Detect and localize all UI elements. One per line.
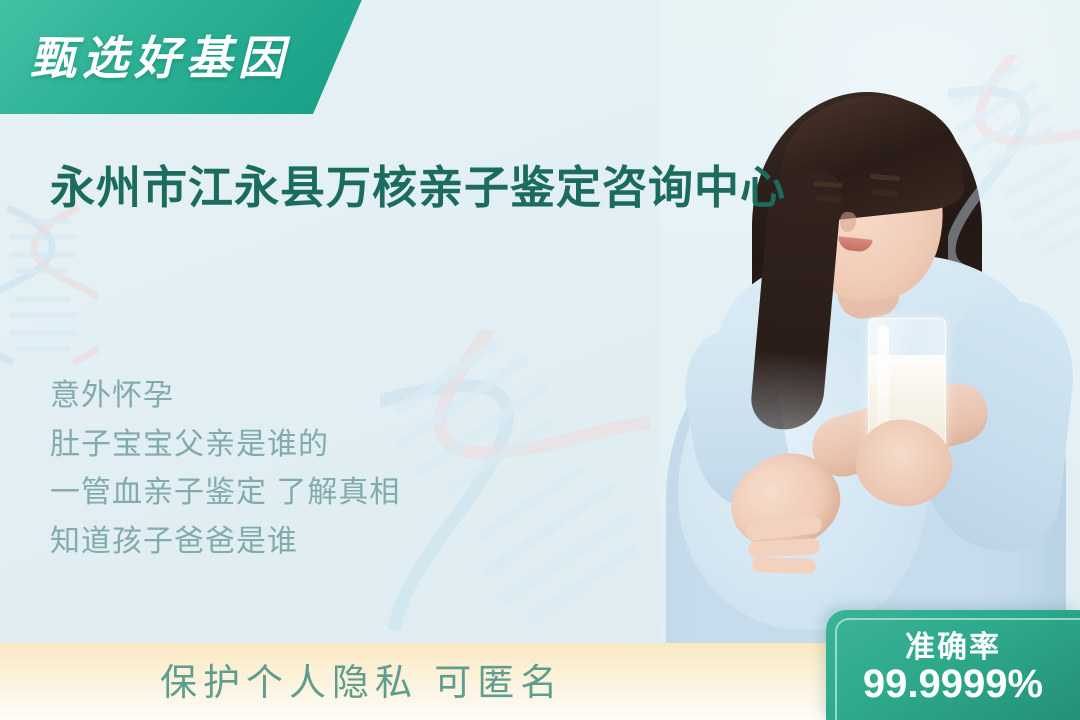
page-title: 永州市江永县万核亲子鉴定咨询中心: [50, 160, 850, 217]
bullet-line: 肚子宝宝父亲是谁的: [50, 421, 610, 470]
bullet-line: 意外怀孕: [50, 372, 610, 421]
brand-banner-text: 甄选好基因: [30, 22, 290, 88]
privacy-tagline: 保护个人隐私 可匿名: [160, 652, 563, 706]
accuracy-value: 99.9999%: [826, 662, 1080, 707]
bullet-line: 知道孩子爸爸是谁: [50, 518, 610, 567]
bullet-list: 意外怀孕 肚子宝宝父亲是谁的 一管血亲子鉴定 了解真相 知道孩子爸爸是谁: [50, 372, 610, 566]
accuracy-badge: 准确率 99.9999%: [826, 610, 1080, 720]
finger: [752, 557, 816, 574]
dna-helix-icon: [0, 205, 98, 370]
accuracy-label: 准确率: [826, 622, 1080, 666]
bullet-line: 一管血亲子鉴定 了解真相: [50, 469, 610, 518]
dna-helix-icon: [948, 55, 1080, 265]
promo-poster: 甄选好基因 永州市江永县万核亲子鉴定咨询中心 意外怀孕 肚子宝宝父亲是谁的 一管…: [0, 0, 1080, 720]
